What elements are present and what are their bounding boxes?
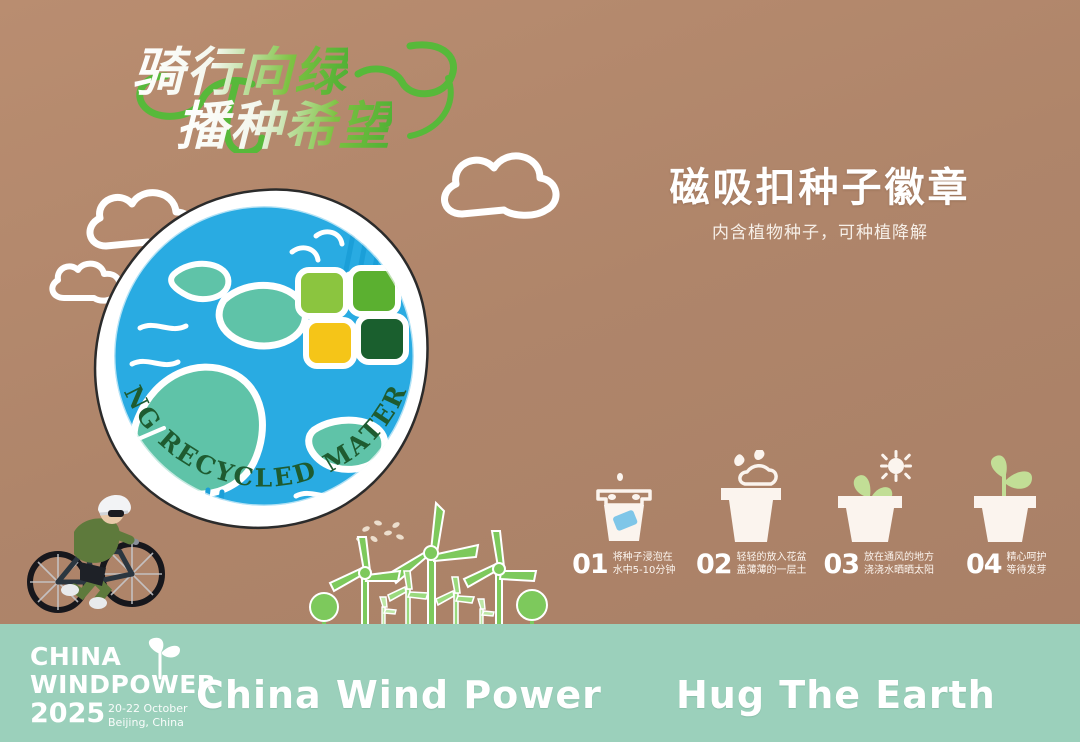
step-line1-01: 将种子浸泡在 [613, 552, 676, 565]
logo-line-windpower: WINDPOWER [30, 672, 217, 697]
pot-grown-sprout-icon [966, 440, 1046, 545]
cup-soak-seed-icon [584, 440, 664, 545]
pot-sun-sprout-icon [834, 440, 924, 545]
step-item-02: 02 轻轻的放入花盆 盖薄薄的一层土 [688, 440, 816, 600]
step-line1-03: 放在通风的地方 [864, 552, 934, 565]
cyclist-illustration [24, 470, 174, 622]
logo-event-details: 20-22 October Beijing, China [108, 702, 187, 730]
step-item-03: 03 放在通风的地方 浇浇水晒晒太阳 [815, 440, 943, 600]
title-line-2: 播种希望 [176, 84, 392, 159]
step-item-04: 04 精心呵护 等待发芽 [943, 440, 1071, 600]
step-number-01: 01 [572, 551, 608, 578]
logo-year: 2025 [30, 700, 105, 727]
planting-steps-list: 01 将种子浸泡在 水中5-10分钟 02 轻轻的放入花盆 [560, 440, 1070, 600]
step-line2-02: 盖薄薄的一层土 [737, 565, 807, 578]
title-lockup: 骑行向绿 播种希望 [110, 18, 470, 153]
step-text-04: 04 精心呵护 等待发芽 [966, 551, 1047, 578]
wind-turbines-illustration [300, 495, 550, 630]
logo-place: Beijing, China [108, 716, 187, 730]
step-number-04: 04 [966, 551, 1002, 578]
step-line1-02: 轻轻的放入花盆 [737, 552, 807, 565]
step-line2-01: 水中5-10分钟 [613, 565, 676, 578]
step-text-03: 03 放在通风的地方 浇浇水晒晒太阳 [823, 551, 934, 578]
step-line2-04: 等待发芽 [1007, 565, 1047, 578]
banner-text-left: China Wind Power [196, 676, 602, 714]
page-title: 磁吸扣种子徽章 [620, 155, 1020, 213]
china-windpower-logo: CHINA WINDPOWER 2025 20-22 October Beiji… [28, 636, 198, 728]
step-number-02: 02 [696, 551, 732, 578]
page-subtitle: 内含植物种子，可种植降解 [620, 218, 1020, 243]
step-text-01: 01 将种子浸泡在 水中5-10分钟 [572, 551, 675, 578]
cloud-large-icon [428, 140, 568, 230]
bottom-banner: CHINA WINDPOWER 2025 20-22 October Beiji… [0, 624, 1080, 742]
banner-text-right: Hug The Earth [676, 676, 996, 714]
step-line1-04: 精心呵护 [1007, 552, 1047, 565]
step-item-01: 01 将种子浸泡在 水中5-10分钟 [560, 440, 688, 600]
pot-soil-water-icon [711, 440, 791, 545]
poster-root: 骑行向绿 播种希望 [0, 0, 1080, 742]
step-text-02: 02 轻轻的放入花盆 盖薄薄的一层土 [696, 551, 807, 578]
step-line2-03: 浇浇水晒晒太阳 [864, 565, 934, 578]
logo-date: 20-22 October [108, 702, 187, 716]
step-number-03: 03 [823, 551, 859, 578]
logo-line-china: CHINA [30, 644, 121, 669]
